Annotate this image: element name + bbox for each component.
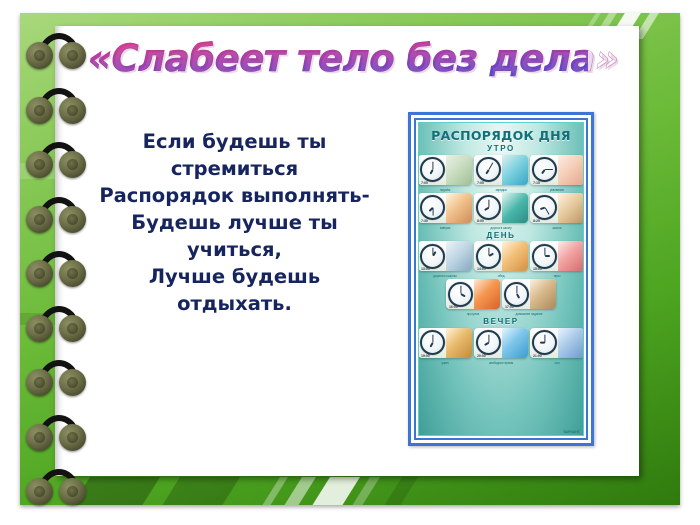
card-time: 8:25: [533, 219, 540, 223]
drink-icon: [502, 328, 528, 358]
card-label: домашнее задание: [502, 312, 556, 316]
card-label: подъём: [418, 188, 472, 192]
clock-icon: [448, 282, 473, 307]
card-time: 13:00: [421, 267, 430, 271]
poem-line: Лучше будешь: [92, 263, 377, 290]
card-label: игры: [530, 274, 584, 278]
poster-section-label: УТРО: [419, 144, 583, 153]
poster-card-wrap: 7:05зарядка: [474, 155, 528, 185]
poster-card: 15:00: [530, 241, 584, 271]
card-label: дорога в школу: [474, 226, 528, 230]
backpack-icon: [502, 193, 528, 223]
poster-card: 8:25: [530, 193, 584, 223]
poster-card: 17:00: [502, 279, 556, 309]
poster-credit: ВАРИАНТ: [564, 430, 580, 434]
poster-section-label: ВЕЧЕР: [419, 317, 583, 326]
clock-icon: [420, 244, 445, 269]
clock-icon: [532, 330, 557, 355]
card-label: дорога из школы: [418, 274, 472, 278]
clock-icon: [532, 157, 557, 182]
poster-card: 7:05: [474, 155, 528, 185]
card-label: школа: [530, 226, 584, 230]
spiral-ring-disc: [59, 260, 86, 287]
clock-icon: [476, 157, 501, 182]
card-label: зарядка: [474, 188, 528, 192]
poster-card-wrap: 7:30завтрак: [418, 193, 472, 223]
frame-stripe-decoration: [160, 477, 240, 505]
poster-row: 19:00ужин20:00свободное время21:00сон: [419, 328, 583, 364]
poster-card-wrap: 20:00свободное время: [474, 328, 528, 358]
spiral-ring-disc: [59, 424, 86, 451]
poster-card: 20:00: [474, 328, 528, 358]
frame-stripe-decoration: [310, 477, 360, 505]
card-time: 14:00: [477, 267, 486, 271]
poster-row: 7:30завтрак8:00дорога в школу8:25школа: [419, 193, 583, 229]
frame-stripe-decoration: [260, 477, 288, 505]
poster-inner-border: РАСПОРЯДОК ДНЯ УТРО7:00подъём7:05зарядка…: [414, 118, 588, 440]
clock-icon: [532, 244, 557, 269]
ball-icon: [474, 279, 500, 309]
toys-icon: [558, 241, 584, 271]
breakfast-icon: [446, 193, 472, 223]
toiletries-icon: [558, 155, 584, 185]
clock-icon: [476, 195, 501, 220]
poster-card: 14:00: [474, 241, 528, 271]
poster-card-wrap: 19:00ужин: [418, 328, 472, 358]
card-time: 7:30: [421, 219, 428, 223]
poster-title: РАСПОРЯДОК ДНЯ: [419, 128, 583, 143]
spiral-ring-disc: [26, 151, 53, 178]
poem-line: Если будешь ты: [92, 128, 377, 155]
poster-body: РАСПОРЯДОК ДНЯ УТРО7:00подъём7:05зарядка…: [418, 122, 584, 436]
poem-line: Будешь лучше ты: [92, 209, 377, 236]
card-label: сон: [530, 361, 584, 365]
poem-line: стремиться: [92, 155, 377, 182]
spiral-ring-disc: [26, 369, 53, 396]
poster-section-label: ДЕНЬ: [419, 231, 583, 240]
card-label: свободное время: [474, 361, 528, 365]
spiral-ring-disc: [59, 315, 86, 342]
poster-card-wrap: 21:00сон: [530, 328, 584, 358]
spiral-ring-disc: [26, 97, 53, 124]
card-time: 7:05: [477, 181, 484, 185]
card-time: 7:15: [533, 181, 540, 185]
dumbbells-icon: [502, 155, 528, 185]
card-time: 7:00: [421, 181, 428, 185]
spiral-ring-disc: [26, 206, 53, 233]
card-time: 19:00: [421, 354, 430, 358]
frame-stripe-decoration: [350, 477, 380, 505]
spiral-ring: [26, 472, 92, 506]
poster-card: 8:00: [474, 193, 528, 223]
poster-card-wrap: 13:00дорога из школы: [418, 241, 472, 271]
clock-icon: [532, 195, 557, 220]
lunch-icon: [502, 241, 528, 271]
card-label: ужин: [418, 361, 472, 365]
spiral-ring-disc: [26, 424, 53, 451]
spiral-ring: [26, 363, 92, 397]
page-title: «Слабеет тело без дела»: [88, 37, 588, 80]
poem-text: Если будешь ты стремиться Распорядок вып…: [92, 128, 377, 317]
poster-card-wrap: 7:15умывание: [530, 155, 584, 185]
spiral-ring-disc: [26, 478, 53, 505]
poster-row: 16:00прогулка17:00домашнее задание: [419, 279, 583, 315]
poem-line: Распорядок выполнять-: [92, 182, 377, 209]
poster-card-wrap: 14:00обед: [474, 241, 528, 271]
poster-card-wrap: 16:00прогулка: [446, 279, 500, 309]
frame-stripe-decoration: [382, 477, 418, 505]
spiral-ring-disc: [59, 206, 86, 233]
poster-card-wrap: 17:00домашнее задание: [502, 279, 556, 309]
spiral-ring-disc: [59, 97, 86, 124]
books-icon: [530, 279, 556, 309]
school-desk-icon: [558, 193, 584, 223]
poster-card: 7:15: [530, 155, 584, 185]
spiral-ring: [26, 309, 92, 343]
poster-card: 7:30: [418, 193, 472, 223]
poem-line: учиться,: [92, 236, 377, 263]
spiral-ring: [26, 36, 92, 70]
frame-stripe-decoration: [282, 477, 316, 505]
poster-card-wrap: 15:00игры: [530, 241, 584, 271]
spiral-ring: [26, 91, 92, 125]
poster-row: 13:00дорога из школы14:00обед15:00игры: [419, 241, 583, 277]
card-label: умывание: [530, 188, 584, 192]
clock-icon: [420, 330, 445, 355]
clock-icon: [420, 195, 445, 220]
alarm-clock-icon: [446, 155, 472, 185]
daily-routine-poster: РАСПОРЯДОК ДНЯ УТРО7:00подъём7:05зарядка…: [408, 112, 594, 446]
poster-card: 7:00: [418, 155, 472, 185]
card-time: 8:00: [477, 219, 484, 223]
clock-icon: [476, 244, 501, 269]
clock-icon: [476, 330, 501, 355]
spiral-ring-disc: [59, 478, 86, 505]
spiral-ring-disc: [59, 369, 86, 396]
poster-card-wrap: 7:00подъём: [418, 155, 472, 185]
poster-card: 21:00: [530, 328, 584, 358]
card-label: обед: [474, 274, 528, 278]
poster-card: 13:00: [418, 241, 472, 271]
shoes-icon: [446, 241, 472, 271]
card-label: завтрак: [418, 226, 472, 230]
card-time: 15:00: [533, 267, 542, 271]
poster-row: 7:00подъём7:05зарядка7:15умывание: [419, 155, 583, 191]
poem-line: отдыхать.: [92, 290, 377, 317]
poster-card-wrap: 8:00дорога в школу: [474, 193, 528, 223]
spiral-ring-disc: [59, 151, 86, 178]
slide-canvas: «Слабеет тело без дела» Если будешь ты с…: [0, 0, 700, 525]
poster-sections: УТРО7:00подъём7:05зарядка7:15умывание7:3…: [419, 144, 583, 364]
spiral-ring-disc: [59, 42, 86, 69]
poster-card-wrap: 8:25школа: [530, 193, 584, 223]
spiral-ring: [26, 254, 92, 288]
poster-card: 19:00: [418, 328, 472, 358]
spiral-ring-disc: [26, 42, 53, 69]
spiral-ring: [26, 200, 92, 234]
spiral-ring: [26, 145, 92, 179]
bed-icon: [558, 328, 584, 358]
clock-icon: [420, 157, 445, 182]
clock-icon: [504, 282, 529, 307]
card-time: 21:00: [533, 354, 542, 358]
spiral-ring-disc: [26, 260, 53, 287]
poster-card: 16:00: [446, 279, 500, 309]
spiral-ring-disc: [26, 315, 53, 342]
spiral-ring: [26, 418, 92, 452]
card-time: 20:00: [477, 354, 486, 358]
card-time: 17:00: [505, 305, 514, 309]
card-time: 16:00: [449, 305, 458, 309]
dinner-icon: [446, 328, 472, 358]
card-label: прогулка: [446, 312, 500, 316]
